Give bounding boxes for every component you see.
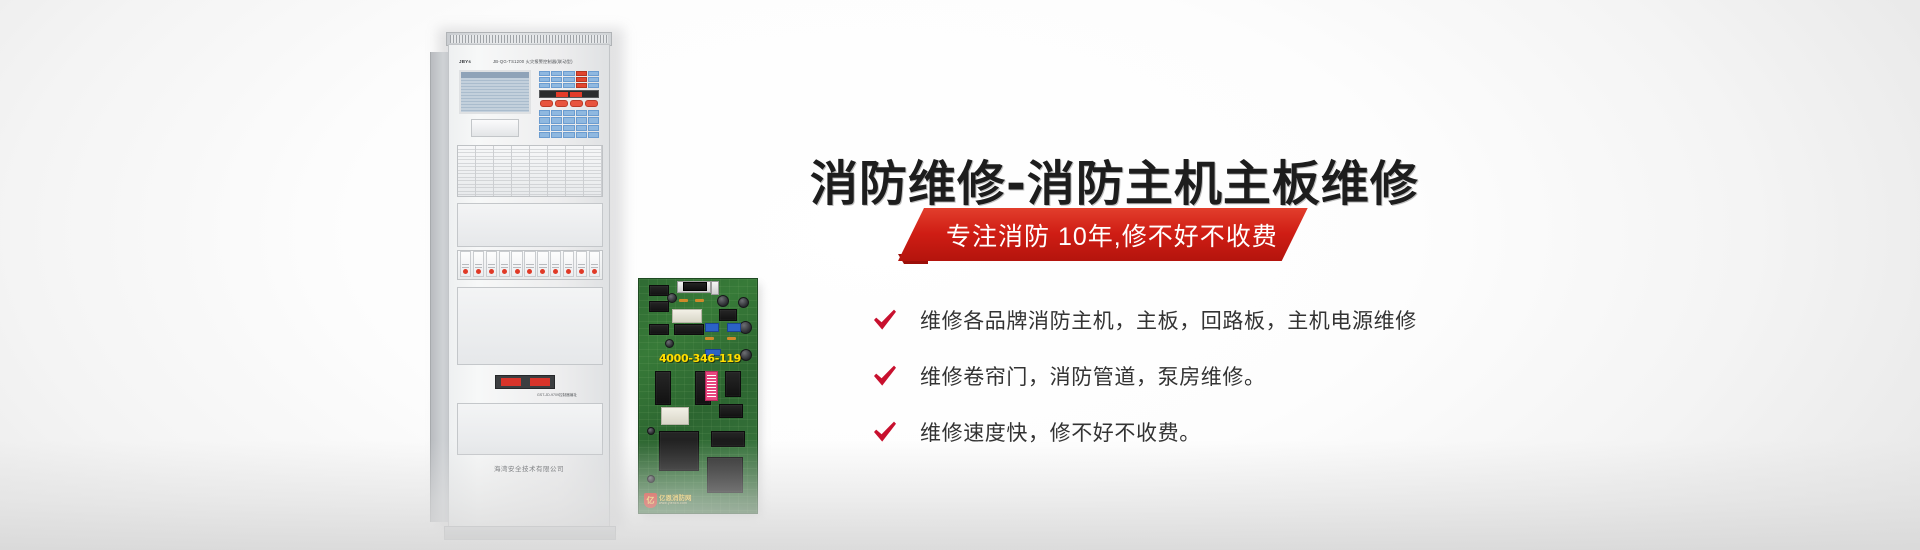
pcb-phone-overlay: 4000-346-119 <box>647 352 753 365</box>
pcb-resistor-2 <box>695 299 704 302</box>
pcb-substrate: 4000-346-119 亿 亿恩消防网 www.yiencn <box>638 278 758 514</box>
pcb-watermark-logo: 亿 亿恩消防网 www.yiencn.com <box>644 493 692 508</box>
list-item-label: 维修卷帘门，消防管道，泵房维修。 <box>920 361 1266 391</box>
cabinet-blank-panel-3 <box>457 403 603 455</box>
pcb-connector-top-2 <box>683 282 707 291</box>
banner-content: 消防维修-消防主机主板维修 专注消防 10年,修不好不收费 维修各品牌消防主机，… <box>810 0 1810 550</box>
pcb-dip-switch[interactable] <box>705 371 718 401</box>
pcb-capacitor-2 <box>717 295 729 307</box>
pcb-ic-3 <box>649 324 669 335</box>
promo-ribbon: 专注消防 10年,修不好不收费 <box>898 208 1308 261</box>
pcb-capacitor-6 <box>665 339 674 348</box>
cabinet-blank-panel-1 <box>457 203 603 247</box>
pcb-capacitor-1 <box>667 293 677 303</box>
pcb-microcontroller <box>659 431 699 471</box>
cabinet-printer-drawer[interactable] <box>471 119 519 137</box>
pcb-capacitor-7 <box>647 427 655 435</box>
pcb-ic-white-1 <box>672 309 702 323</box>
pcb-logo-domain: www.yiencn.com <box>659 502 692 506</box>
pcb-dip-ic-1 <box>655 371 671 405</box>
pcb-trimpot-2 <box>727 323 741 332</box>
cabinet-blank-panel-2 <box>457 287 603 365</box>
cabinet-brand-logo: JBYs <box>459 59 471 64</box>
pcb-dip-ic-3 <box>725 371 741 397</box>
pcb-resistor-1 <box>679 299 688 302</box>
pcb-plcc-chip <box>707 457 743 493</box>
feature-list: 维修各品牌消防主机，主板，回路板，主机电源维修 维修卷帘门，消防管道，泵房维修。… <box>872 292 1772 460</box>
promo-banner: JBYs JB-QG-TS1200 火灾报警控制器(联动型) <box>0 0 1920 550</box>
pcb-connector-top-3 <box>711 281 719 295</box>
mainboard-pcb-image: 4000-346-119 亿 亿恩消防网 www.yiencn <box>638 278 762 518</box>
pcb-ic-2 <box>649 301 669 312</box>
ribbon-label: 专注消防 10年,修不好不收费 <box>898 208 1308 261</box>
pcb-crystal-oscillator <box>661 407 689 425</box>
pcb-resistor-4 <box>727 337 736 340</box>
pcb-trimpot-1 <box>705 323 719 332</box>
keypad-number-keys[interactable] <box>539 110 599 138</box>
pcb-resistor-3 <box>705 337 714 340</box>
cabinet-base-plinth <box>444 526 616 540</box>
cabinet-zone-indicator-panel <box>457 145 603 197</box>
cabinet-model-label: JB-QG-TS1200 火灾报警控制器(联动型) <box>493 59 573 65</box>
fire-alarm-control-panel-image: JBYs JB-QG-TS1200 火灾报警控制器(联动型) <box>430 18 630 538</box>
cabinet-keypad[interactable] <box>539 71 599 139</box>
checkmark-icon <box>872 363 898 389</box>
cabinet-manufacturer-label: 海湾安全技术有限公司 <box>449 463 609 473</box>
list-item: 维修卷帘门，消防管道，泵房维修。 <box>872 348 1772 404</box>
cabinet-lcd-screen <box>459 70 531 114</box>
pcb-ic-5 <box>719 309 737 321</box>
pcb-ic-1 <box>649 285 669 296</box>
cabinet-front-door: JBYs JB-QG-TS1200 火灾报警控制器(联动型) <box>448 44 610 529</box>
pcb-capacitor-3 <box>738 297 749 308</box>
list-item: 维修速度快，修不好不收费。 <box>872 404 1772 460</box>
checkmark-icon <box>872 419 898 445</box>
cabinet-sub-label: GST-JD-9709控制器编址 <box>537 393 577 398</box>
cabinet-module-led-row <box>457 250 603 280</box>
pcb-capacitor-8 <box>647 475 655 483</box>
pcb-logo-text: 亿恩消防网 www.yiencn.com <box>659 495 692 506</box>
page-title: 消防维修-消防主机主板维修 <box>810 144 1419 214</box>
list-item-label: 维修速度快，修不好不收费。 <box>920 417 1201 447</box>
list-item-label: 维修各品牌消防主机，主板，回路板，主机电源维修 <box>920 305 1417 335</box>
pcb-ic-4 <box>674 324 704 335</box>
pcb-dip-ic-4 <box>719 404 743 418</box>
cabinet-voltage-meter <box>495 375 555 389</box>
checkmark-icon <box>872 307 898 333</box>
pcb-dip-ic-5 <box>711 431 745 447</box>
keypad-status-lights <box>539 71 599 88</box>
shield-icon: 亿 <box>644 493 657 508</box>
keypad-led-display <box>539 90 599 98</box>
keypad-function-buttons[interactable] <box>539 100 599 107</box>
list-item: 维修各品牌消防主机，主板，回路板，主机电源维修 <box>872 292 1772 348</box>
